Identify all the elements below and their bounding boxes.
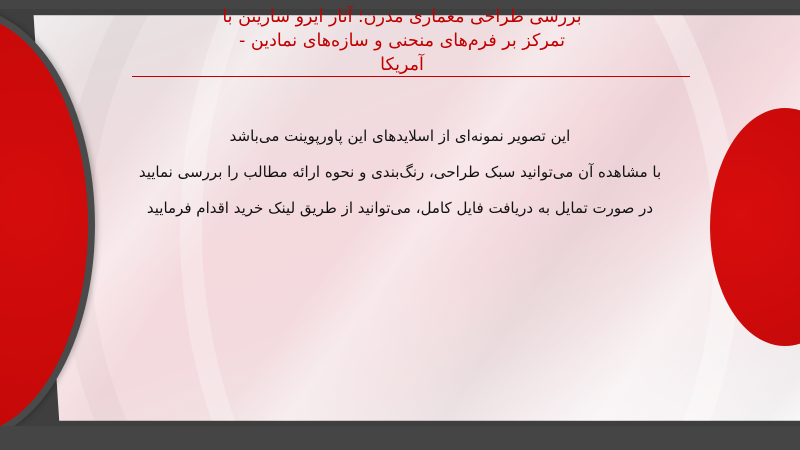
slide-title-line-2: تمرکز بر فرم‌های منحنی و سازه‌های نمادین… (239, 31, 565, 51)
body-line-3: در صورت تمایل به دریافت فایل کامل، می‌تو… (110, 190, 690, 226)
slide-body-text: این تصویر نمونه‌ای از اسلایدهای این پاور… (110, 118, 690, 226)
slide-title: بررسی طراحی معماری مدرن؛ آثار ایرو سارین… (112, 5, 692, 77)
slide-title-line-1: بررسی طراحی معماری مدرن؛ آثار ایرو سارین… (222, 7, 581, 27)
slide-content: بررسی طراحی معماری مدرن؛ آثار ایرو سارین… (0, 0, 800, 450)
slide-title-line-3: آمریکا (380, 55, 424, 75)
title-divider-rule (132, 76, 690, 77)
body-line-2: با مشاهده آن می‌توانید سبک طراحی، رنگ‌بن… (110, 154, 690, 190)
presentation-slide: بررسی طراحی معماری مدرن؛ آثار ایرو سارین… (0, 0, 800, 450)
body-line-1: این تصویر نمونه‌ای از اسلایدهای این پاور… (110, 118, 690, 154)
